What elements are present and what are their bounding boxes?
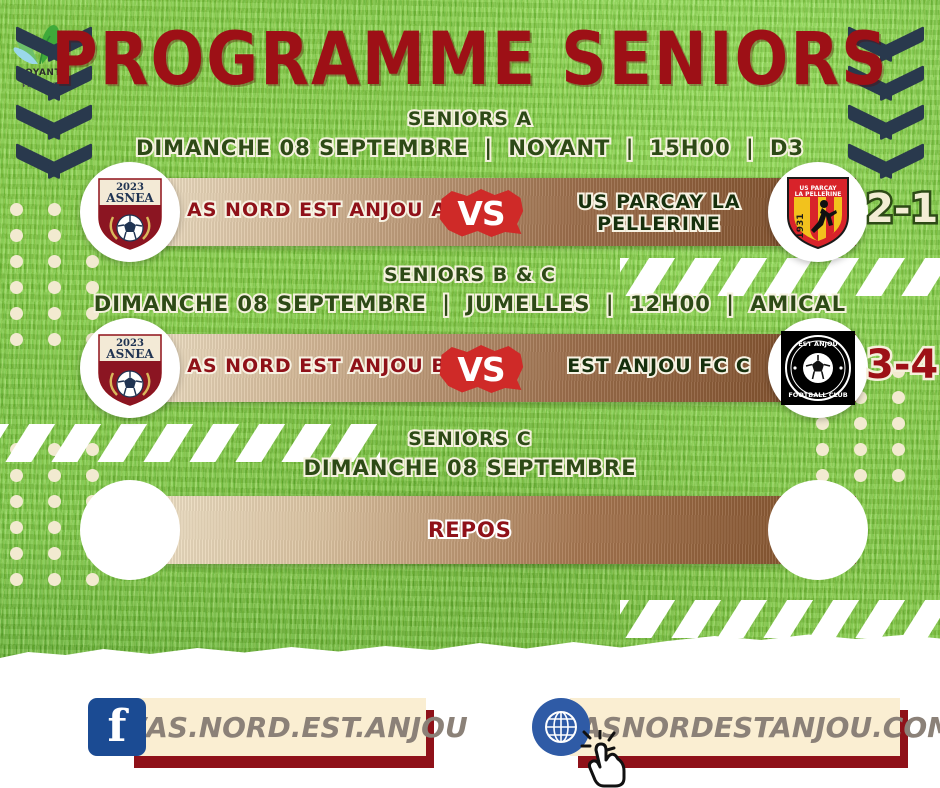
empty-crest-placeholder-left [80, 480, 180, 580]
facebook-glyph: f [108, 707, 127, 747]
meta-separator: | [484, 136, 493, 160]
vs-label: VS [438, 344, 524, 394]
us-parcay-crest-icon: US PARÇAY LA PELLERINE 1931 [776, 170, 860, 254]
match-row-seniors-a: 2023 ASNEA AS NORD EST ANJOU A VS US PAR… [0, 166, 940, 258]
meta-separator: | [626, 136, 635, 160]
empty-crest-placeholder-right [768, 480, 868, 580]
svg-text:LA PELLERINE: LA PELLERINE [795, 191, 842, 198]
match-venue: JUMELLES [466, 292, 590, 316]
asnea-crest-icon: 2023 ASNEA [87, 325, 173, 411]
decor-stripe [620, 600, 681, 638]
section-header-seniors-c: SENIORS C DIMANCHE 08 SEPTEMBRE [0, 428, 940, 480]
section-header-seniors-bc: SENIORS B & C DIMANCHE 08 SEPTEMBRE | JU… [0, 264, 940, 316]
match-date: DIMANCHE 08 SEPTEMBRE [303, 456, 636, 480]
away-crest-parcay: US PARÇAY LA PELLERINE 1931 [768, 162, 868, 262]
home-crest-asnea: 2023 ASNEA [80, 318, 180, 418]
svg-text:FOOTBALL CLUB: FOOTBALL CLUB [788, 391, 847, 399]
match-score: 2-1 [866, 186, 940, 232]
facebook-icon[interactable]: f [88, 698, 146, 756]
svg-text:ASNEA: ASNEA [105, 191, 154, 205]
section-meta: DIMANCHE 08 SEPTEMBRE | NOYANT | 15H00 |… [0, 136, 940, 160]
decor-stripe [755, 600, 820, 638]
home-team-name: AS NORD EST ANJOU B [182, 356, 452, 378]
section-title: SENIORS C [0, 428, 940, 450]
away-team-name: US PARCAY LA PELLERINE [524, 192, 794, 236]
svg-text:1931: 1931 [796, 213, 806, 238]
decor-stripe [663, 600, 728, 638]
decor-stripe [709, 600, 774, 638]
away-crest-est-anjou: EST ANJOU FOOTBALL CLUB [768, 318, 868, 418]
section-meta: DIMANCHE 08 SEPTEMBRE | JUMELLES | 12H00… [0, 292, 940, 316]
globe-glyph [540, 706, 582, 748]
programme-poster: PROGRAMME SENIORS SENIORS A DIMANCHE 08 … [0, 0, 940, 788]
match-row-seniors-bc: 2023 ASNEA AS NORD EST ANJOU B VS EST AN… [0, 322, 940, 414]
section-title: SENIORS B & C [0, 264, 940, 286]
stripe-band-right-lower [620, 600, 940, 638]
match-competition: D3 [770, 136, 804, 160]
decor-stripe [801, 600, 866, 638]
section-title: SENIORS A [0, 108, 940, 130]
vs-badge: VS [438, 344, 524, 394]
vs-badge: VS [438, 188, 524, 238]
home-team-name: AS NORD EST ANJOU A [182, 200, 452, 222]
svg-text:ASNEA: ASNEA [105, 347, 154, 361]
meta-separator: | [746, 136, 755, 160]
section-header-seniors-a: SENIORS A DIMANCHE 08 SEPTEMBRE | NOYANT… [0, 108, 940, 160]
rest-row-seniors-c: REPOS [0, 488, 940, 580]
facebook-handle: /AS.NORD.EST.ANJOU [136, 698, 466, 756]
match-venue: NOYANT [508, 136, 610, 160]
home-crest-asnea: 2023 ASNEA [80, 162, 180, 262]
match-score: 3-4 [866, 342, 940, 388]
meta-separator: | [442, 292, 451, 316]
svg-text:EST ANJOU: EST ANJOU [798, 340, 838, 348]
decor-stripe [847, 600, 912, 638]
page-title: PROGRAMME SENIORS [0, 22, 940, 95]
vs-label: VS [438, 188, 524, 238]
hand-cursor-icon [580, 730, 634, 788]
asnea-crest-icon: 2023 ASNEA [87, 169, 173, 255]
meta-separator: | [726, 292, 735, 316]
away-team-name: EST ANJOU FC C [524, 356, 794, 378]
meta-separator: | [606, 292, 615, 316]
match-time: 12H00 [630, 292, 711, 316]
est-anjou-fc-crest-icon: EST ANJOU FOOTBALL CLUB [779, 329, 857, 407]
section-meta: DIMANCHE 08 SEPTEMBRE [0, 456, 940, 480]
match-date: DIMANCHE 08 SEPTEMBRE [94, 292, 427, 316]
match-competition: AMICAL [750, 292, 846, 316]
match-time: 15H00 [650, 136, 731, 160]
match-date: DIMANCHE 08 SEPTEMBRE [136, 136, 469, 160]
